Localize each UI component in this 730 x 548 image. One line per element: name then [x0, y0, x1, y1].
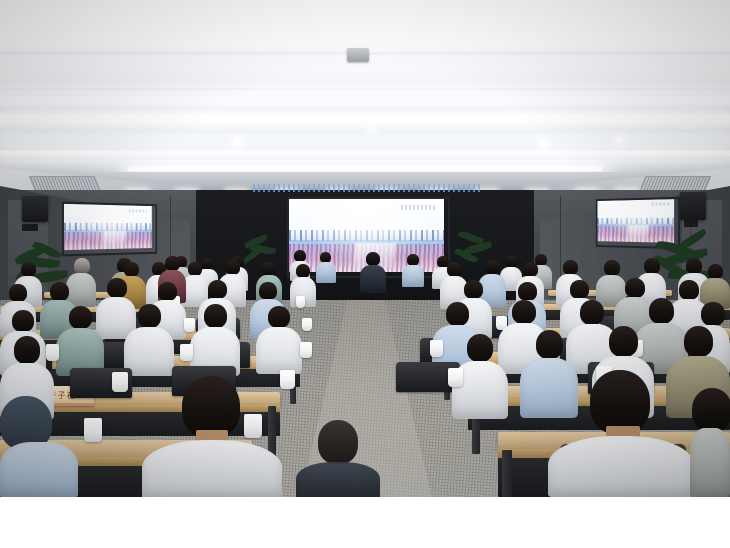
ceiling-light-strip: [0, 158, 730, 160]
photo-matte-bottom: [0, 497, 730, 548]
attendee: [124, 304, 174, 374]
ceiling-light-strip: [0, 150, 730, 156]
white-lidded-teacup: [280, 370, 295, 389]
white-lidded-teacup: [112, 372, 128, 392]
wall-speaker-right: [680, 192, 706, 220]
wall-speaker-right-mount: [684, 220, 698, 227]
photograph-frame: 张建华: [0, 0, 730, 548]
attendee-foreground-far-right: [690, 388, 730, 497]
attendee-foreground-far-left: [0, 396, 78, 497]
attendee: [56, 306, 104, 374]
ceiling-light-strip: [0, 88, 730, 90]
ceiling-light-strip: [0, 130, 730, 132]
stage-light-truss: [250, 184, 482, 192]
attendee-foreground-left: [142, 376, 282, 497]
ceiling-projector-housing: [347, 48, 369, 62]
left-display-bezel: [62, 202, 157, 257]
white-lidded-teacup: [180, 344, 193, 361]
ceiling-seam: [0, 104, 730, 114]
attendee: [256, 306, 302, 372]
ceiling-downlight: [540, 140, 547, 147]
white-lidded-teacup: [84, 418, 102, 442]
wall-speaker-left-mount: [22, 224, 38, 231]
desk-leg: [502, 450, 512, 497]
white-lidded-teacup: [300, 342, 312, 358]
ceiling-downlight: [368, 124, 375, 131]
attendee: [316, 252, 336, 282]
attendee-front-center: [360, 252, 386, 292]
attendee: [190, 304, 240, 374]
white-lidded-teacup: [448, 368, 463, 387]
ceiling-downlight: [234, 138, 241, 145]
attendee-foreground-right: [548, 370, 694, 497]
wall-speaker-left: [22, 196, 48, 222]
ceiling-seam: [0, 160, 730, 163]
attendee-foreground-center: [296, 420, 380, 497]
white-lidded-teacup: [302, 318, 312, 331]
white-lidded-teacup: [430, 340, 443, 357]
ceiling-light-strip: [128, 166, 602, 171]
ceiling-downlight: [616, 136, 623, 143]
ceiling-light-strip: [0, 96, 730, 103]
conference-room-photo: 张建华: [0, 0, 730, 497]
attendee: [402, 254, 424, 286]
ceiling-light-strip: [0, 114, 730, 124]
